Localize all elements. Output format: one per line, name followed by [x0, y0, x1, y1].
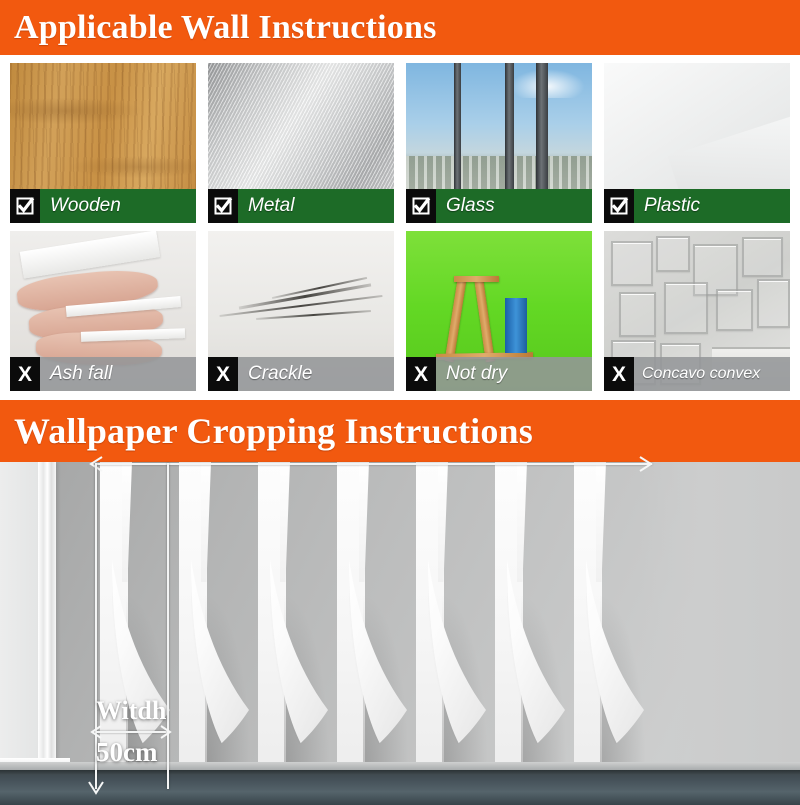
tile-label-bar: X Crackle — [208, 357, 394, 391]
tile-label-bar: Glass — [406, 189, 592, 223]
relief-block — [742, 237, 783, 276]
x-icon: X — [10, 357, 40, 391]
paint-bucket — [505, 298, 527, 352]
width-value-label: 50cm — [96, 737, 157, 768]
tile-glass: Glass — [406, 63, 592, 223]
tile-label-text: Wooden — [40, 195, 121, 217]
tile-label-bar: Wooden — [10, 189, 196, 223]
wallpaper-strip — [416, 462, 488, 770]
tile-label-bar: X Not dry — [406, 357, 592, 391]
wallpaper-strip — [258, 462, 330, 770]
wallpaper-strip — [179, 462, 251, 770]
tile-label-text: Ash fall — [40, 363, 112, 385]
arrow-down-icon — [87, 780, 105, 796]
x-icon: X — [208, 357, 238, 391]
relief-block — [619, 292, 656, 338]
banner-applicable-wall-instructions: Applicable Wall Instructions — [0, 0, 800, 55]
strip-tip — [438, 462, 448, 582]
tile-label-text: Not dry — [436, 363, 507, 385]
wall-type-grid: Wooden Metal — [0, 55, 800, 400]
tile-label-bar: Metal — [208, 189, 394, 223]
check-icon — [406, 189, 436, 223]
wallpaper-strip — [495, 462, 567, 770]
dimension-line-vertical-width-right — [167, 463, 169, 789]
ladder-top — [454, 276, 499, 282]
tile-concavo-convex: X Concavo convex — [604, 231, 790, 391]
tile-plastic: Plastic — [604, 63, 790, 223]
strip-tip — [359, 462, 369, 582]
tile-not-dry: X Not dry — [406, 231, 592, 391]
relief-block — [664, 282, 709, 334]
tile-ash-fall: X Ash fall — [10, 231, 196, 391]
tile-label-text: Plastic — [634, 195, 700, 217]
paint-flake-shape — [20, 231, 160, 278]
tile-label-text: Crackle — [238, 363, 312, 385]
check-icon — [208, 189, 238, 223]
ladder-leg — [444, 279, 466, 363]
tile-label-bar: X Concavo convex — [604, 357, 790, 391]
width-caption-label: Witdh — [96, 696, 166, 726]
page-title-wall-instructions: Applicable Wall Instructions — [14, 9, 437, 47]
crack-line — [256, 310, 371, 320]
ladder-leg — [475, 279, 495, 363]
wall-surface-right — [640, 462, 800, 770]
x-icon: X — [406, 357, 436, 391]
arrow-right-icon — [159, 724, 173, 740]
tile-label-text: Metal — [238, 195, 294, 217]
strip-tip — [122, 462, 132, 582]
door-frame-molding — [38, 462, 56, 764]
tile-metal: Metal — [208, 63, 394, 223]
dimension-line-width — [96, 731, 168, 733]
page-title-cropping-instructions: Wallpaper Cropping Instructions — [14, 410, 533, 452]
strip-tip — [280, 462, 290, 582]
check-icon — [604, 189, 634, 223]
strip-tip — [596, 462, 606, 582]
arrow-right-icon — [638, 455, 654, 473]
banner-wallpaper-cropping-instructions: Wallpaper Cropping Instructions — [0, 400, 800, 462]
strip-tip — [201, 462, 211, 582]
relief-block — [656, 236, 690, 272]
x-icon: X — [604, 357, 634, 391]
relief-block — [611, 241, 652, 287]
tile-crackle: X Crackle — [208, 231, 394, 391]
strip-tip — [517, 462, 527, 582]
dimension-line-horizontal-top — [96, 463, 652, 465]
infographic-page: Applicable Wall Instructions Wooden — [0, 0, 800, 800]
tile-label-text: Glass — [436, 195, 495, 217]
tile-label-text: Concavo convex — [634, 365, 760, 383]
relief-block — [716, 289, 753, 331]
tile-label-bar: Plastic — [604, 189, 790, 223]
tile-wooden: Wooden — [10, 63, 196, 223]
relief-block — [757, 279, 790, 328]
wallpaper-strip — [337, 462, 409, 770]
wallpaper-strip-group — [100, 462, 648, 770]
wallpaper-strip — [574, 462, 646, 770]
check-icon — [10, 189, 40, 223]
tile-label-bar: X Ash fall — [10, 357, 196, 391]
